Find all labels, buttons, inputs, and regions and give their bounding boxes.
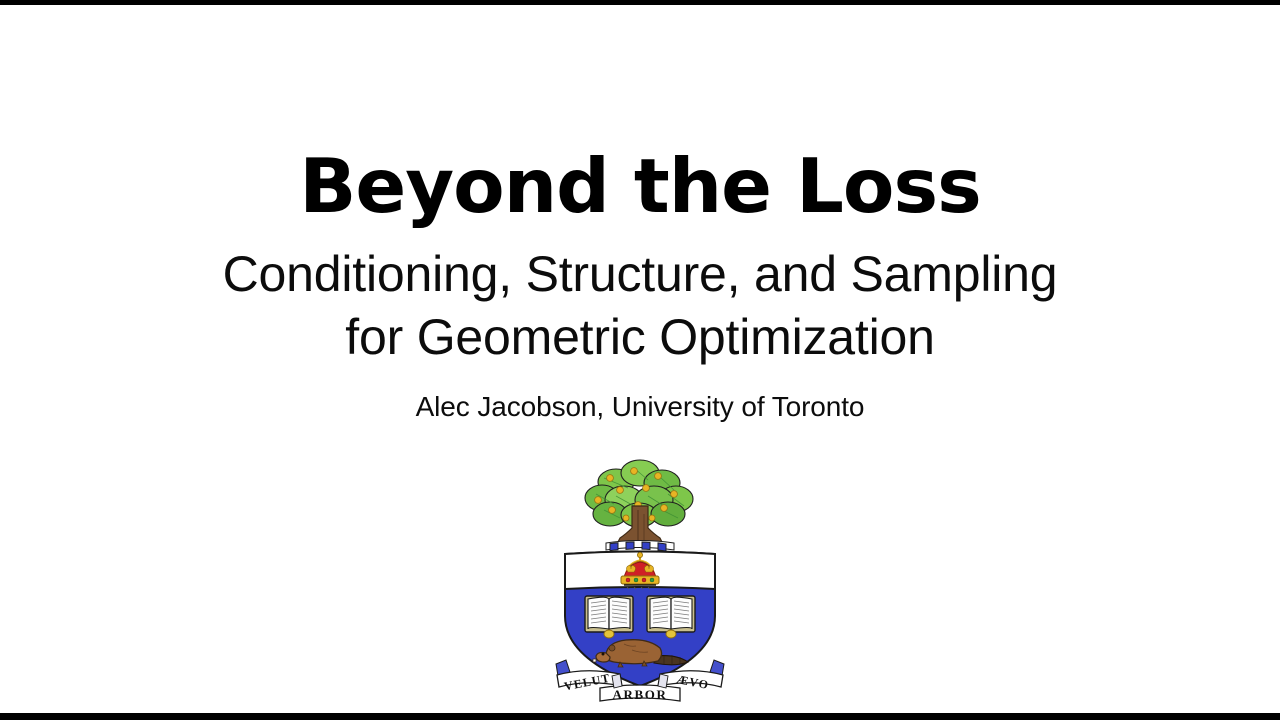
subtitle-line-2: for Geometric Optimization: [0, 306, 1280, 369]
subtitle-line-1: Conditioning, Structure, and Sampling: [0, 243, 1280, 306]
book-left-icon: [585, 596, 633, 638]
slide-title: Beyond the Loss: [0, 147, 1280, 225]
presentation-slide: Beyond the Loss Conditioning, Structure,…: [0, 0, 1280, 720]
slide-subtitle: Conditioning, Structure, and Sampling fo…: [0, 243, 1280, 369]
university-crest: VELUT ÆVO ARBOR: [548, 448, 732, 703]
crest-tree-icon: [585, 460, 693, 542]
author-affiliation: Alec Jacobson, University of Toronto: [0, 390, 1280, 424]
book-right-icon: [647, 596, 695, 638]
letterbox-bar-bottom: [0, 713, 1280, 720]
slide-content: Beyond the Loss Conditioning, Structure,…: [0, 5, 1280, 713]
motto-center-text: ARBOR: [613, 687, 668, 702]
crest-torse: [606, 541, 674, 552]
